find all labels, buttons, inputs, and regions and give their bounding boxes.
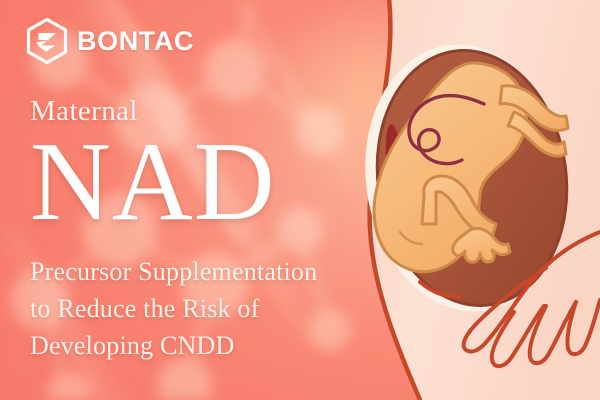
bontac-hexagon-logo-icon [26,18,68,64]
subcopy-line-2: to Reduce the Risk of [30,291,375,328]
subcopy-line-1: Precursor Supplementation [30,254,375,291]
headline-subcopy: Precursor Supplementation to Reduce the … [30,254,375,365]
bontac-logo[interactable]: BONTAC [26,18,194,64]
bontac-wordmark: BONTAC [77,28,194,55]
subcopy-line-3: Developing CNDD [30,328,375,365]
banner-root: BONTAC Maternal NAD Precursor Supplement… [0,0,600,400]
headline-hero: NAD [30,138,375,228]
headline-block: Maternal NAD Precursor Supplementation t… [30,96,375,365]
